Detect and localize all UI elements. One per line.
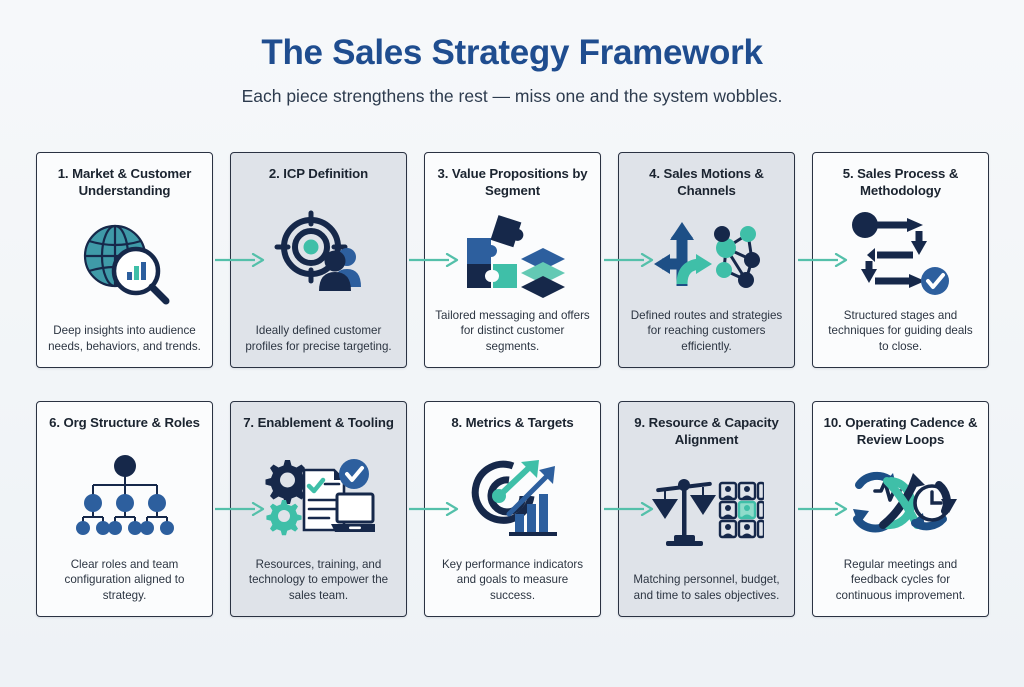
card-description: Resources, training, and technology to e… [240,557,397,605]
card-description: Key performance indicators and goals to … [434,557,591,605]
puzzle-layers-icon [434,200,591,308]
card-description: Tailored messaging and offers for distin… [434,308,591,356]
card-title: 1. Market & Customer Understanding [46,166,203,200]
framework-grid: 1. Market & Customer Understanding [36,152,989,617]
card-title: 10. Operating Cadence & Review Loops [822,415,979,449]
card-title: 8. Metrics & Targets [451,415,573,432]
header: The Sales Strategy Framework Each piece … [0,0,1024,107]
card-description: Matching personnel, budget, and time to … [628,572,785,605]
branching-arrows-network-icon [628,200,785,308]
framework-card-9[interactable]: 9. Resource & Capacity Alignment [618,401,795,617]
card-description: Deep insights into audience needs, behav… [46,323,203,356]
card-title: 5. Sales Process & Methodology [822,166,979,200]
framework-card-6[interactable]: 6. Org Structure & Roles [36,401,213,617]
process-flow-check-icon [822,200,979,308]
card-description: Structured stages and techniques for gui… [822,308,979,356]
framework-card-4[interactable]: 4. Sales Motions & Channels [618,152,795,368]
framework-card-1[interactable]: 1. Market & Customer Understanding [36,152,213,368]
card-title: 9. Resource & Capacity Alignment [628,415,785,449]
gears-checklist-laptop-icon [240,432,397,557]
target-growth-chart-icon [434,432,591,557]
card-description: Ideally defined customer profiles for pr… [240,323,397,356]
card-title: 7. Enablement & Tooling [243,415,394,432]
target-people-icon [240,183,397,324]
card-description: Regular meetings and feedback cycles for… [822,557,979,605]
framework-card-10[interactable]: 10. Operating Cadence & Review Loops [812,401,989,617]
card-title: 6. Org Structure & Roles [49,415,200,432]
page-title: The Sales Strategy Framework [0,34,1024,73]
framework-card-2[interactable]: 2. ICP Definition [230,152,407,368]
framework-card-3[interactable]: 3. Value Propositions by Segment [424,152,601,368]
card-title: 3. Value Propositions by Segment [434,166,591,200]
framework-row-1: 1. Market & Customer Understanding [36,152,989,368]
framework-card-8[interactable]: 8. Metrics & Targets [424,401,601,617]
scales-people-grid-icon [628,449,785,573]
card-description: Defined routes and strategies for reachi… [628,308,785,356]
card-description: Clear roles and team configuration align… [46,557,203,605]
card-title: 2. ICP Definition [269,166,368,183]
page-subtitle: Each piece strengthens the rest — miss o… [0,86,1024,107]
loop-cycle-clock-icon [822,449,979,557]
card-title: 4. Sales Motions & Channels [628,166,785,200]
org-chart-icon [46,432,203,557]
framework-row-2: 6. Org Structure & Roles [36,401,989,617]
globe-magnifier-bar-chart-icon [46,200,203,324]
framework-card-5[interactable]: 5. Sales Process & Methodology [812,152,989,368]
framework-card-7[interactable]: 7. Enablement & Tooling [230,401,407,617]
infographic-page: The Sales Strategy Framework Each piece … [0,0,1024,687]
